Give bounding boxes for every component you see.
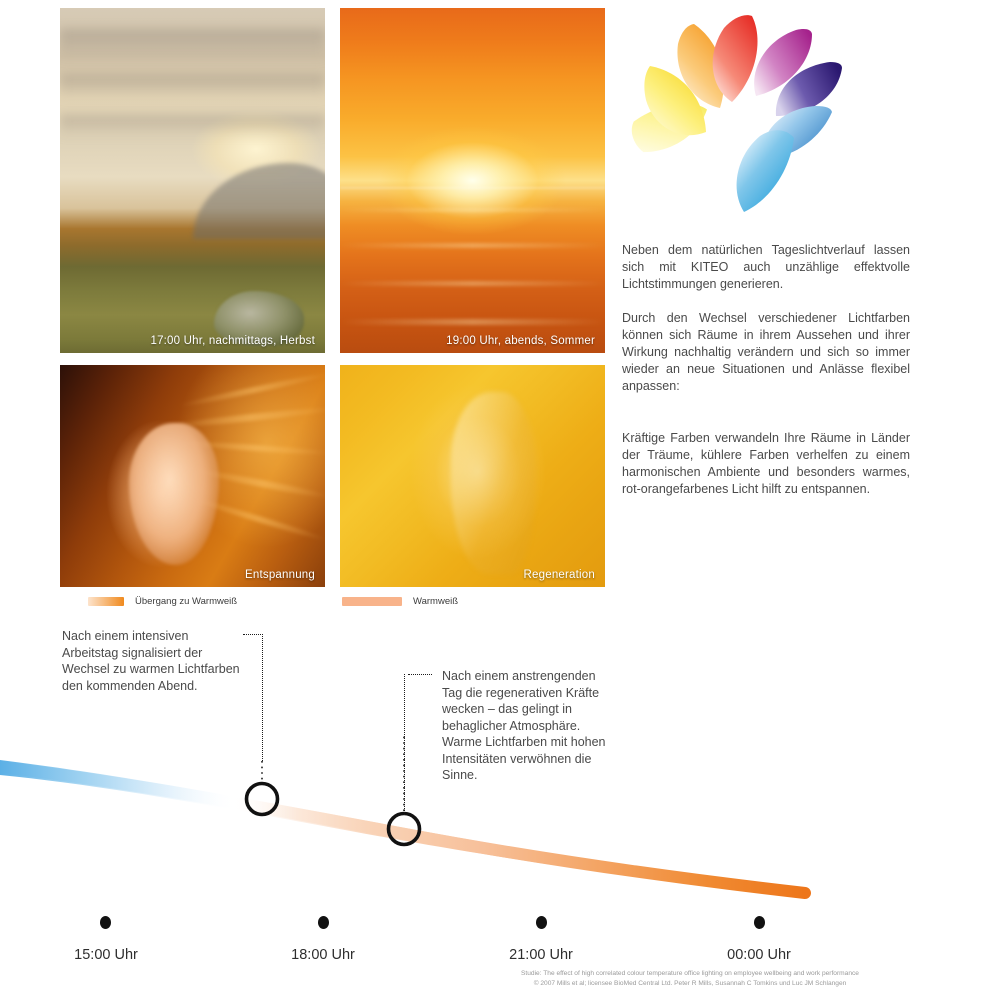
photo-summer-sunset: 19:00 Uhr, abends, Sommer [340, 8, 605, 353]
legend-label: Übergang zu Warmweiß [135, 596, 237, 607]
legend-swatch-uebergang [88, 597, 124, 606]
photo-caption: 19:00 Uhr, abends, Sommer [446, 335, 595, 347]
daylight-curve-chart [0, 735, 1000, 1000]
intro-paragraphs: Neben dem natürlichen Tageslichtverlauf … [622, 242, 910, 412]
light-curve-line [0, 767, 805, 893]
cloud-band [60, 29, 325, 60]
color-effect-paragraph: Kräftige Farben verwandeln Ihre Räume in… [622, 430, 910, 515]
leader-line-regeneration-horizontal [408, 674, 432, 675]
face-profile-silhouette [451, 392, 536, 574]
sea-streak [340, 319, 605, 325]
legend-swatch-warmweiss [342, 597, 402, 606]
photo-autumn-coastline: 17:00 Uhr, nachmittags, Herbst [60, 8, 325, 353]
sea-streak [340, 243, 605, 248]
tick-dot-1800 [318, 916, 329, 929]
paragraph-1: Neben dem natürlichen Tageslichtverlauf … [622, 242, 910, 293]
horizon-line [340, 187, 605, 189]
photo-caption: Entspannung [245, 569, 315, 581]
tick-label-2100: 21:00 Uhr [509, 947, 573, 963]
tick-label-1500: 15:00 Uhr [74, 947, 138, 963]
leader-line-uebergang-horizontal [243, 634, 263, 635]
study-footnote: Studie: The effect of high correlated co… [470, 969, 910, 988]
sea-streak [340, 208, 605, 212]
sea-streak [340, 281, 605, 286]
tick-dot-1500 [100, 916, 111, 929]
callout-uebergang-text: Nach einem intensiven Arbeitstag signali… [62, 628, 242, 694]
legend-item-uebergang: Übergang zu Warmweiß [88, 596, 237, 607]
tick-dot-0000 [754, 916, 765, 929]
photo-entspannung: Entspannung [60, 365, 325, 587]
kiteo-flower-logo [624, 8, 874, 220]
footnote-line-2: © 2007 Mills et al; licensee BioMed Cent… [470, 979, 910, 989]
paragraph-3: Kräftige Farben verwandeln Ihre Räume in… [622, 430, 910, 498]
tick-dot-2100 [536, 916, 547, 929]
leader-line-regeneration-vertical [404, 674, 405, 815]
paragraph-2: Durch den Wechsel verschiedener Lichtfar… [622, 310, 910, 395]
photo-caption: 17:00 Uhr, nachmittags, Herbst [150, 335, 315, 347]
hillside [193, 163, 326, 239]
photo-caption: Regeneration [524, 569, 595, 581]
legend-item-warmweiss: Warmweiß [342, 596, 458, 607]
legend-label: Warmweiß [413, 596, 458, 607]
face-silhouette [129, 423, 219, 565]
leader-line-uebergang-vertical [262, 634, 263, 761]
tick-label-1800: 18:00 Uhr [291, 947, 355, 963]
cloud-band [60, 115, 325, 136]
petal-blue [737, 130, 794, 212]
footnote-line-1: Studie: The effect of high correlated co… [470, 969, 910, 979]
hair-strand [178, 371, 325, 409]
tick-label-0000: 00:00 Uhr [727, 947, 791, 963]
photo-regeneration: Regeneration [340, 365, 605, 587]
cloud-band [60, 74, 325, 98]
